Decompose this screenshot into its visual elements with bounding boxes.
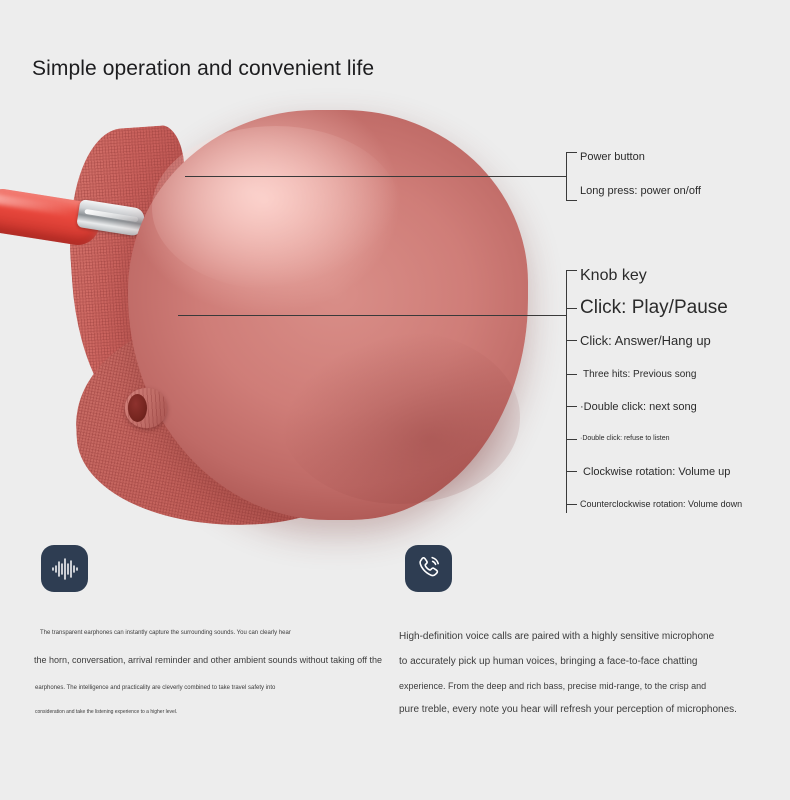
feature-2-line-1: High-definition voice calls are paired w… xyxy=(399,631,714,642)
feature-1-line-4: consideration and take the listening exp… xyxy=(35,709,177,715)
feature-icon-transparency xyxy=(41,545,88,592)
power-leader-line xyxy=(185,176,566,177)
power-bracket-spine xyxy=(566,152,567,200)
callout-counterclockwise-volume-down: Counterclockwise rotation: Volume down xyxy=(580,499,742,509)
feature-2-line-4: pure treble, every note you hear will re… xyxy=(399,704,737,715)
feature-icon-voice-call xyxy=(405,545,452,592)
knob-key-face xyxy=(128,394,147,422)
feature-1-line-2: the horn, conversation, arrival reminder… xyxy=(34,655,382,665)
feature-1-line-3: earphones. The intelligence and practica… xyxy=(35,685,275,691)
knob-tick-1 xyxy=(566,270,577,271)
callout-click-play-pause: Click: Play/Pause xyxy=(580,297,728,319)
knob-leader-line xyxy=(178,315,566,316)
callout-clockwise-volume-up: Clockwise rotation: Volume up xyxy=(583,466,730,478)
knob-tick-7 xyxy=(566,471,577,472)
page-title: Simple operation and convenient life xyxy=(32,57,374,81)
callout-long-press: Long press: power on/off xyxy=(580,185,701,197)
product-illustration xyxy=(0,100,600,540)
power-tick-1 xyxy=(566,152,577,153)
callout-knob-key: Knob key xyxy=(580,267,647,285)
knob-tick-2 xyxy=(566,308,577,309)
knob-tick-5 xyxy=(566,406,577,407)
callout-three-hits-previous: Three hits: Previous song xyxy=(583,369,696,380)
phone-call-icon xyxy=(415,555,442,582)
knob-tick-8 xyxy=(566,504,577,505)
callout-power-button: Power button xyxy=(580,151,645,163)
feature-2-line-3: experience. From the deep and rich bass,… xyxy=(399,681,706,691)
callout-double-click-refuse: ·Double click: refuse to listen xyxy=(580,435,669,442)
knob-bracket-spine xyxy=(566,270,567,513)
knob-tick-6 xyxy=(566,439,577,440)
feature-1-line-1: The transparent earphones can instantly … xyxy=(40,630,291,636)
callout-double-click-next: ·Double click: next song xyxy=(580,401,697,413)
audio-waveform-icon xyxy=(51,558,79,580)
callout-click-answer-hangup: Click: Answer/Hang up xyxy=(580,333,711,348)
knob-tick-3 xyxy=(566,340,577,341)
infographic-page: Simple operation and convenient life Pow… xyxy=(0,0,790,800)
power-tick-2 xyxy=(566,200,577,201)
knob-tick-4 xyxy=(566,374,577,375)
feature-2-line-2: to accurately pick up human voices, brin… xyxy=(399,656,698,667)
